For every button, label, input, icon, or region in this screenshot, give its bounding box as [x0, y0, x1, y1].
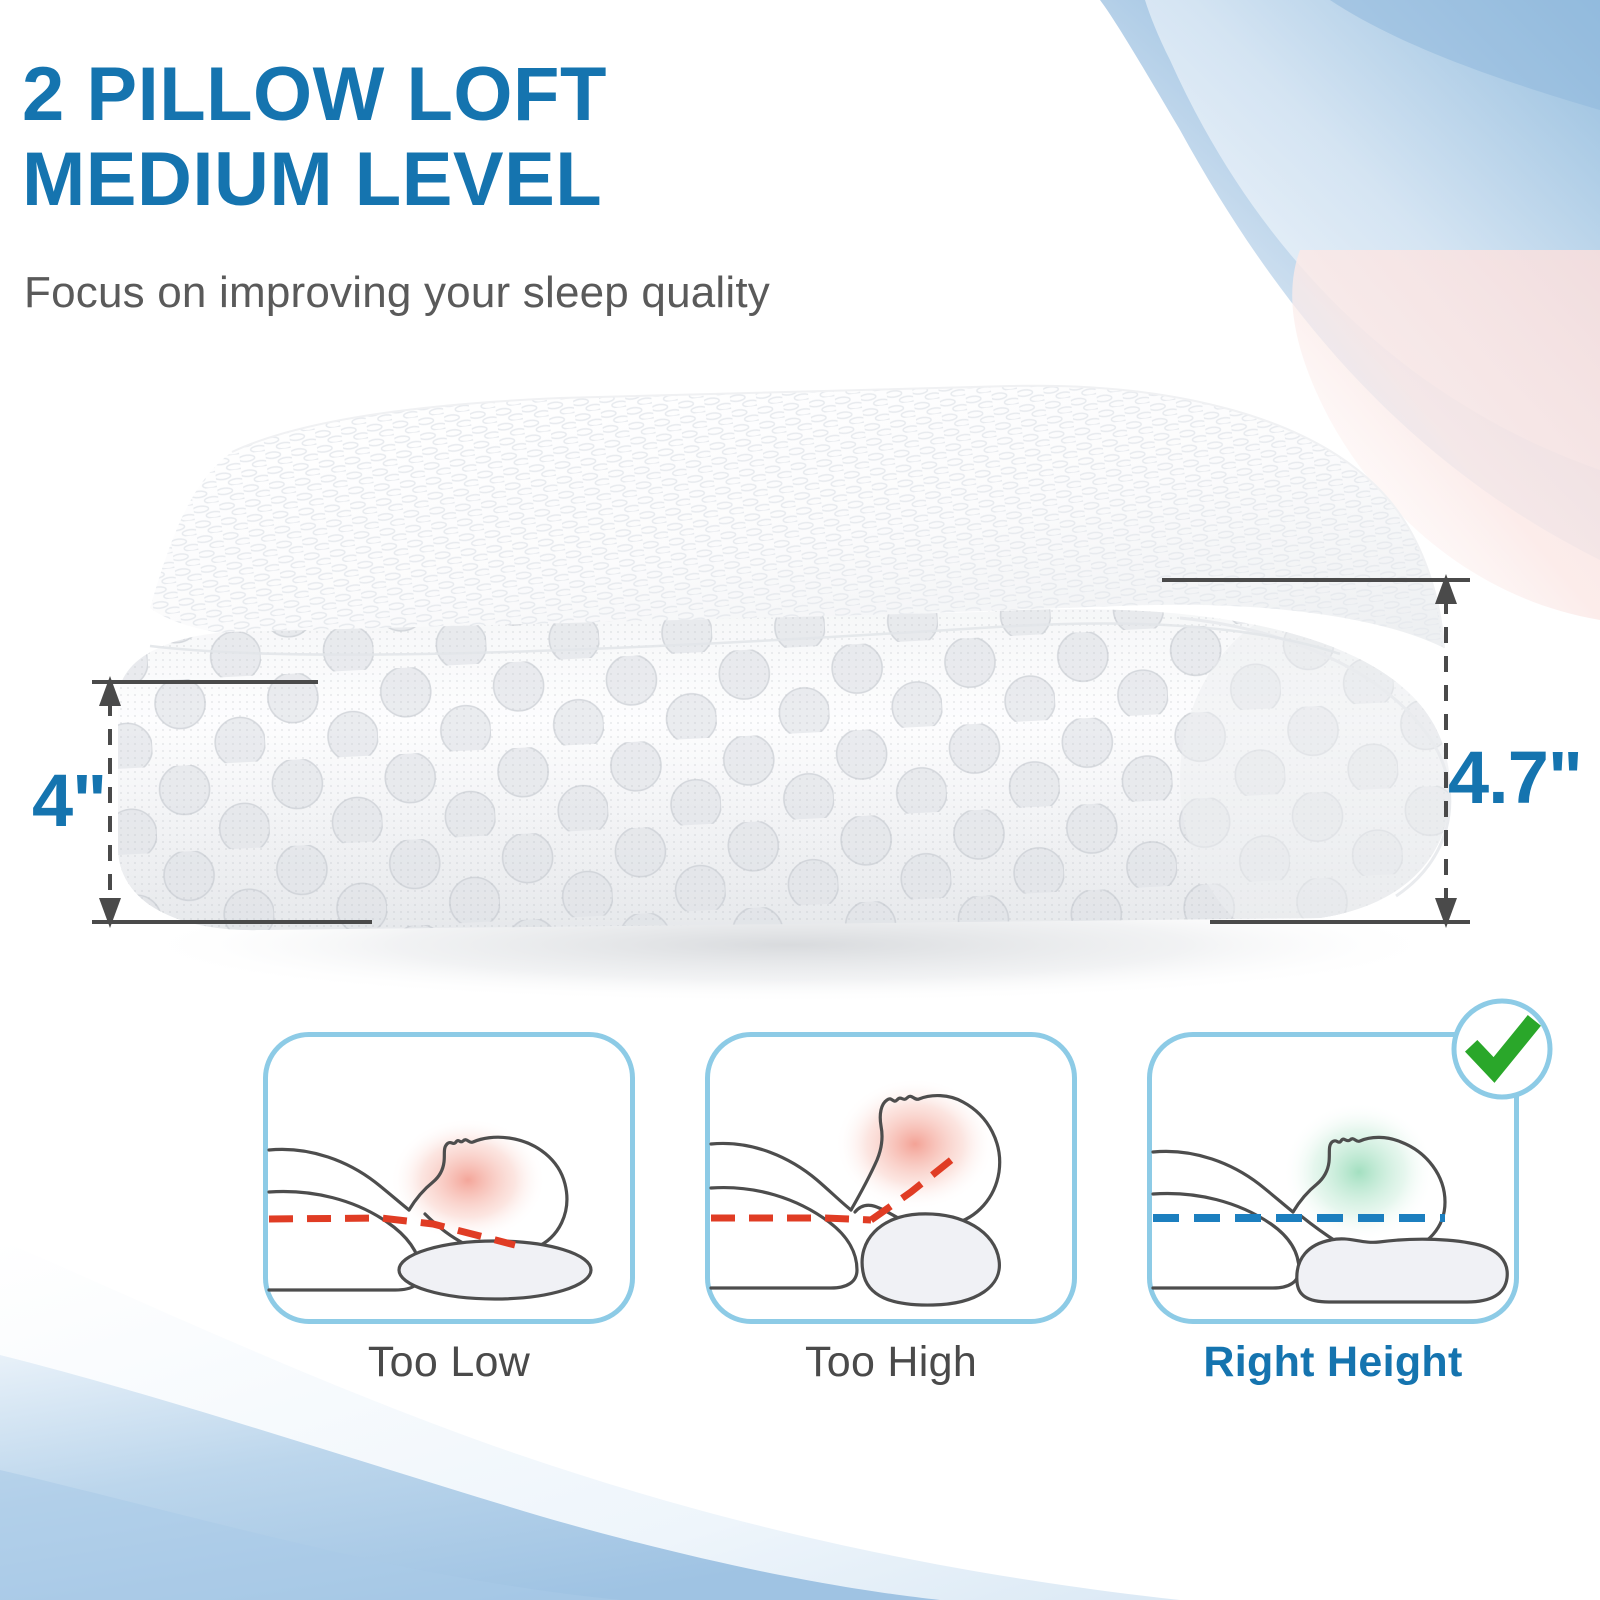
product-shadow: [130, 887, 1450, 1003]
infographic-canvas: 2 PILLOW LOFT MEDIUM LEVEL Focus on impr…: [0, 0, 1600, 1600]
comparison-panel-too-low[interactable]: Too Low: [263, 1032, 635, 1324]
page-subtitle: Focus on improving your sleep quality: [24, 268, 770, 318]
dimension-label-right: 4.7": [1448, 735, 1582, 820]
panel-label-too-high: Too High: [705, 1338, 1077, 1387]
too-high-illustration: [705, 1032, 1077, 1324]
comparison-panel-too-high[interactable]: Too High: [705, 1032, 1077, 1324]
dimension-marker-left: [92, 676, 372, 928]
panel-label-right-height: Right Height: [1147, 1338, 1519, 1387]
panel-label-too-low: Too Low: [263, 1338, 635, 1387]
comparison-panel-right-height[interactable]: Right Height: [1147, 1032, 1519, 1324]
check-circle-icon: [1447, 994, 1557, 1104]
pillow-top-surface: [120, 370, 1470, 670]
page-title: 2 PILLOW LOFT MEDIUM LEVEL: [22, 52, 1022, 222]
alignment-line-base: [711, 1218, 871, 1220]
dimension-label-left: 4": [32, 758, 106, 843]
dimension-marker-right: [1162, 574, 1470, 928]
comparison-panel-group: Too Low: [0, 1022, 1600, 1442]
too-low-illustration: [263, 1032, 635, 1324]
swoosh-top-right: [1100, 0, 1600, 620]
neck-strain-glow: [390, 1118, 546, 1242]
pillow-front-surface: [100, 600, 1480, 960]
